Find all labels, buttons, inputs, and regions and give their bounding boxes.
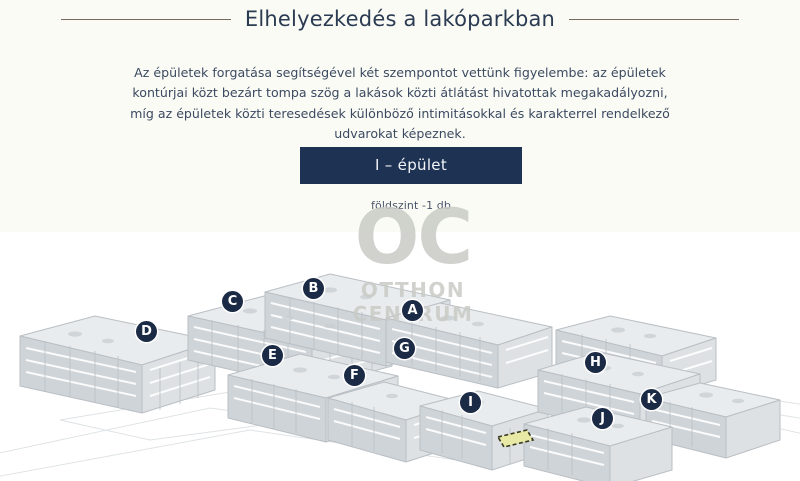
- page-title: Elhelyezkedés a lakóparkban: [245, 7, 555, 31]
- building-selector-button[interactable]: I – épület: [300, 147, 522, 184]
- map-marker-b[interactable]: B: [303, 278, 324, 299]
- map-marker-f[interactable]: F: [344, 365, 365, 386]
- map-marker-d[interactable]: D: [136, 321, 157, 342]
- map-marker-c[interactable]: C: [222, 291, 243, 312]
- map-marker-g[interactable]: G: [394, 338, 415, 359]
- buildings: [20, 274, 780, 481]
- map-marker-i[interactable]: I: [460, 392, 481, 413]
- page-title-row: Elhelyezkedés a lakóparkban: [0, 2, 800, 36]
- map-marker-k[interactable]: K: [641, 389, 662, 410]
- site-location-page: Elhelyezkedés a lakóparkban Az épületek …: [0, 0, 800, 481]
- map-marker-h[interactable]: H: [585, 352, 606, 373]
- intro-panel: Elhelyezkedés a lakóparkban Az épületek …: [0, 0, 800, 232]
- floor-note: földszint -1 db: [300, 199, 522, 212]
- map-marker-e[interactable]: E: [262, 345, 283, 366]
- map-marker-j[interactable]: J: [592, 408, 613, 429]
- intro-paragraph: Az épületek forgatása segítségével két s…: [130, 63, 670, 145]
- title-rule-left: [61, 19, 231, 20]
- title-rule-right: [569, 19, 739, 20]
- map-marker-a[interactable]: A: [402, 300, 423, 321]
